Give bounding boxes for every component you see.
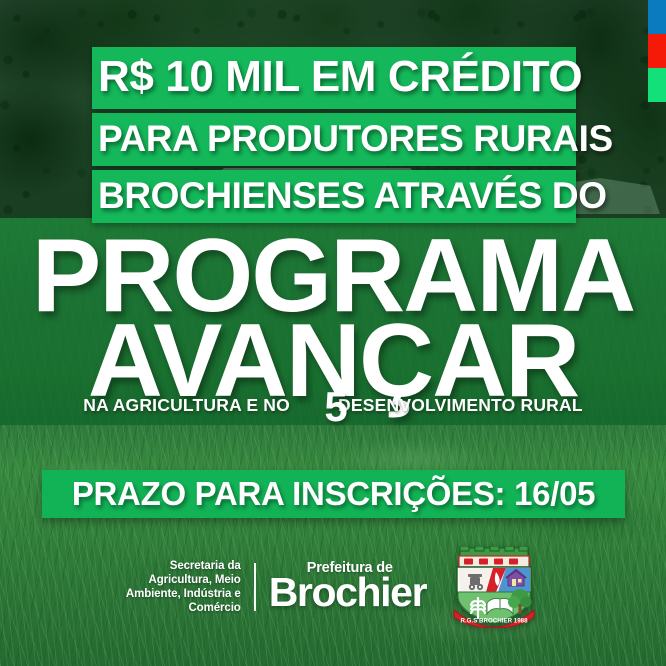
grass-clumps-texture [0,425,666,666]
footer-divider [254,563,256,611]
secretariat-line-4: Comércio [126,601,241,615]
brochier-flag-strip [648,0,666,102]
flag-bar-red [648,34,666,68]
coat-of-arms-icon: R.G.S BROCHIER 1988 [448,546,540,628]
secretariat-line-3: Ambiente, Indústria e [126,587,241,601]
headline-line-2: PARA PRODUTORES RURAIS [92,113,576,166]
crest-ribbon-text: R.G.S BROCHIER 1988 [461,618,529,625]
poster-canvas: R$ 10 MIL EM CRÉDITO PARA PRODUTORES RUR… [0,0,666,666]
prefecture-logo: Prefeitura de Brochier [269,561,426,613]
program-subtitle-right: DESENVOLVIMENTO RURAL [338,395,583,415]
brochier-coat-of-arms: R.G.S BROCHIER 1988 [448,546,540,628]
footer-bar: Secretaria da Agricultura, Meio Ambiente… [0,552,666,622]
program-five-mark: 5 [324,386,347,428]
program-title-block: PROGRAMA AVANÇAR [0,218,666,407]
deadline-banner: PRAZO PARA INSCRIÇÕES: 16/05 [42,470,625,518]
deadline-label: PRAZO PARA INSCRIÇÕES: 16/05 [72,475,595,513]
secretariat-text: Secretaria da Agricultura, Meio Ambiente… [126,559,241,616]
headline-block: R$ 10 MIL EM CRÉDITO PARA PRODUTORES RUR… [92,47,576,223]
program-subtitle-left: NA AGRICULTURA E NO [83,395,290,415]
headline-line-1: R$ 10 MIL EM CRÉDITO [92,47,576,109]
secretariat-line-1: Secretaria da [126,559,241,573]
grass-background [0,425,666,666]
flag-bar-green [648,68,666,102]
flag-bar-blue [648,0,666,34]
secretariat-line-2: Agricultura, Meio [126,573,241,587]
prefecture-logo-big: Brochier [269,572,426,613]
headline-line-3: BROCHIENSES ATRAVÉS DO [92,170,576,223]
